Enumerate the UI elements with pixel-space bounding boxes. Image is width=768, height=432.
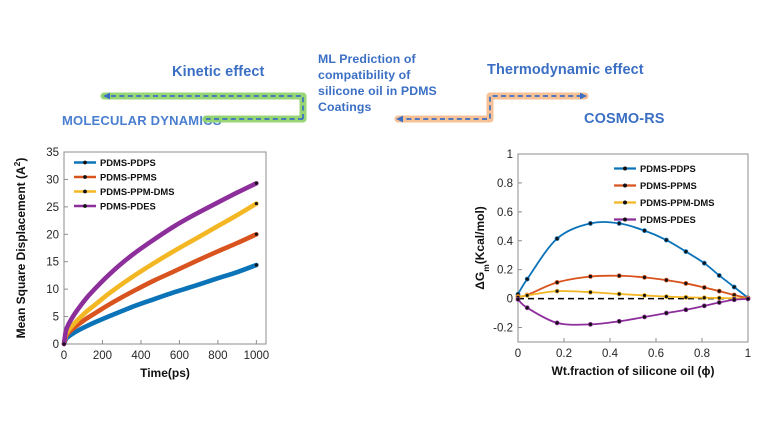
y-tick-label: 30 — [46, 174, 59, 186]
series-marker — [702, 261, 706, 265]
series-marker — [555, 289, 559, 293]
y-tick-label: 25 — [46, 202, 59, 214]
series-marker — [255, 263, 258, 266]
legend-label-2: PDMS-PPM-DMS — [640, 197, 714, 208]
series-marker — [684, 281, 688, 285]
x-tick-label: 0.6 — [648, 348, 664, 360]
x-axis-title: Time(ps) — [140, 366, 190, 380]
series-marker — [684, 295, 688, 299]
legend-label-0: PDMS-PDPS — [100, 157, 156, 168]
series-marker — [516, 297, 520, 301]
legend-label-1: PDMS-PPMS — [640, 180, 697, 191]
x-tick-label: 1 — [745, 348, 751, 360]
x-tick-label: 0.2 — [556, 348, 572, 360]
legend-marker — [623, 167, 627, 171]
series-marker — [555, 237, 559, 241]
series-marker — [255, 182, 258, 185]
kinetic-effect-label: Kinetic effect — [172, 64, 264, 80]
series-marker — [732, 298, 736, 302]
x-tick-label: 0 — [515, 348, 521, 360]
series-marker — [643, 229, 647, 233]
series-marker — [588, 290, 592, 294]
y-tick-label: 0 — [507, 294, 513, 306]
msd-chart: 0200400600800100005101520253035Time(ps)M… — [8, 140, 278, 390]
series-marker — [702, 285, 706, 289]
y-tick-label: 20 — [46, 229, 59, 241]
legend-marker — [83, 190, 87, 194]
series-marker — [617, 292, 621, 296]
series-marker — [717, 289, 721, 293]
series-marker — [643, 293, 647, 297]
series-marker — [617, 319, 621, 323]
y-tick-label: 1 — [507, 149, 513, 161]
y-tick-label: 0.4 — [497, 236, 514, 248]
y-tick-label: -0.2 — [493, 323, 513, 335]
series-marker — [664, 278, 668, 282]
plot-frame — [518, 154, 748, 342]
x-tick-label: 0.8 — [694, 348, 710, 360]
series-marker — [555, 280, 559, 284]
legend-marker — [83, 161, 87, 165]
legend-label-1: PDMS-PPMS — [100, 172, 157, 183]
series-marker — [664, 295, 668, 299]
graphical-abstract: Kinetic effect Thermodynamic effect ML P… — [0, 0, 768, 432]
series-marker — [62, 342, 65, 345]
legend-label-3: PDMS-PDES — [640, 214, 696, 225]
series-marker — [702, 296, 706, 300]
series-marker — [702, 304, 706, 308]
series-marker — [643, 315, 647, 319]
y-axis-title: Mean Square Displacement (A2) — [12, 158, 28, 339]
legend-marker — [623, 201, 627, 205]
series-marker — [717, 296, 721, 300]
series-marker — [255, 233, 258, 236]
y-tick-label: 5 — [53, 312, 59, 324]
series-marker — [746, 297, 750, 301]
y-tick-label: 10 — [46, 284, 59, 296]
molecular-dynamics-label: MOLECULAR DYNAMICS — [62, 113, 222, 128]
series-marker — [617, 221, 621, 225]
series-marker — [664, 311, 668, 315]
series-marker — [588, 322, 592, 326]
x-axis-title: Wt.fraction of silicone oil (ϕ) — [552, 364, 715, 378]
x-tick-label: 800 — [208, 350, 227, 362]
series-marker — [555, 321, 559, 325]
series-marker — [684, 250, 688, 254]
x-tick-label: 200 — [93, 350, 112, 362]
series-marker — [717, 273, 721, 277]
thermodynamic-effect-label: Thermodynamic effect — [487, 62, 644, 78]
series-marker — [525, 306, 529, 310]
legend-marker — [623, 218, 627, 222]
x-tick-label: 0.4 — [602, 348, 619, 360]
y-tick-label: 0.6 — [497, 207, 513, 219]
x-tick-label: 1000 — [244, 350, 270, 362]
y-tick-label: 0.8 — [497, 178, 513, 190]
series-marker — [664, 238, 668, 242]
legend-marker — [83, 175, 87, 179]
series-marker — [588, 274, 592, 278]
series-marker — [684, 308, 688, 312]
gibbs-energy-chart: 00.20.40.60.81-0.200.20.40.60.81Wt.fract… — [470, 142, 760, 392]
series-marker — [717, 301, 721, 305]
y-tick-label: 0 — [53, 339, 59, 351]
y-tick-label: 15 — [46, 257, 59, 269]
series-marker — [525, 293, 529, 297]
series-marker — [643, 275, 647, 279]
series-marker — [732, 285, 736, 289]
x-tick-label: 0 — [61, 350, 67, 362]
legend-label-2: PDMS-PPM-DMS — [100, 186, 174, 197]
x-tick-label: 600 — [170, 350, 189, 362]
y-axis-title: ΔGm(Kcal/mol) — [473, 206, 491, 290]
legend-label-0: PDMS-PDPS — [640, 163, 696, 174]
y-tick-label: 0.2 — [497, 265, 513, 277]
y-tick-label: 35 — [46, 147, 59, 159]
series-marker — [617, 274, 621, 278]
series-marker — [255, 202, 258, 205]
series-marker — [525, 277, 529, 281]
ml-prediction-label: ML Prediction of compatibility of silico… — [318, 52, 438, 116]
legend-marker — [623, 184, 627, 188]
x-tick-label: 400 — [131, 350, 150, 362]
legend-marker — [83, 204, 87, 208]
legend-label-3: PDMS-PDES — [100, 201, 156, 212]
series-marker — [588, 221, 592, 225]
cosmo-rs-label: COSMO-RS — [584, 111, 665, 127]
